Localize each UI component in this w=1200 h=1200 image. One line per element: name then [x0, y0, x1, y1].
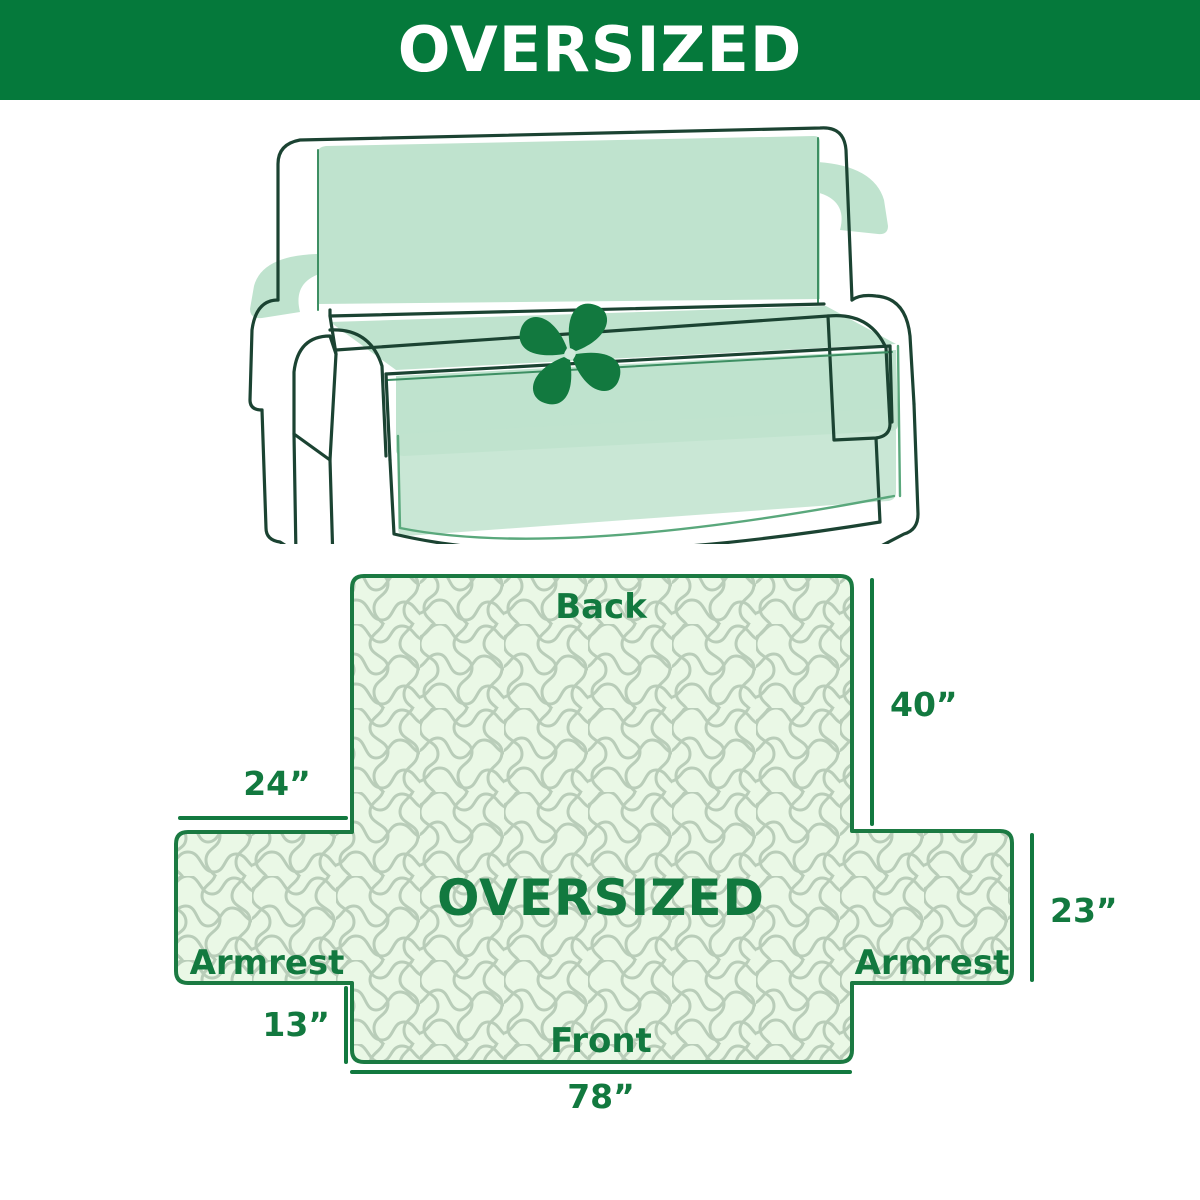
- label-armrest-left: Armrest: [190, 943, 345, 983]
- dimension-label-40: 40”: [890, 685, 958, 724]
- dimension-label-78: 78”: [567, 1077, 635, 1116]
- dimension-diagram-section: 24” 40” 23” 13” 78” Back Front Armrest A…: [0, 540, 1200, 1200]
- label-back: Back: [555, 587, 648, 627]
- dimension-label-13: 13”: [262, 1005, 330, 1044]
- dimension-label-24: 24”: [243, 764, 311, 803]
- sofa-with-cover-line-drawing: [0, 104, 1200, 544]
- label-front: Front: [550, 1021, 652, 1061]
- label-armrest-right: Armrest: [855, 943, 1010, 983]
- page-title: OVERSIZED: [398, 19, 803, 81]
- dimension-label-23: 23”: [1050, 891, 1118, 930]
- sofa-illustration-section: [0, 104, 1200, 544]
- header-banner: OVERSIZED: [0, 0, 1200, 100]
- sofa-left-arm-roll: [294, 336, 336, 460]
- slipcover-flat-layout-diagram: 24” 40” 23” 13” 78” Back Front Armrest A…: [0, 540, 1200, 1200]
- diagram-center-label: OVERSIZED: [437, 869, 765, 927]
